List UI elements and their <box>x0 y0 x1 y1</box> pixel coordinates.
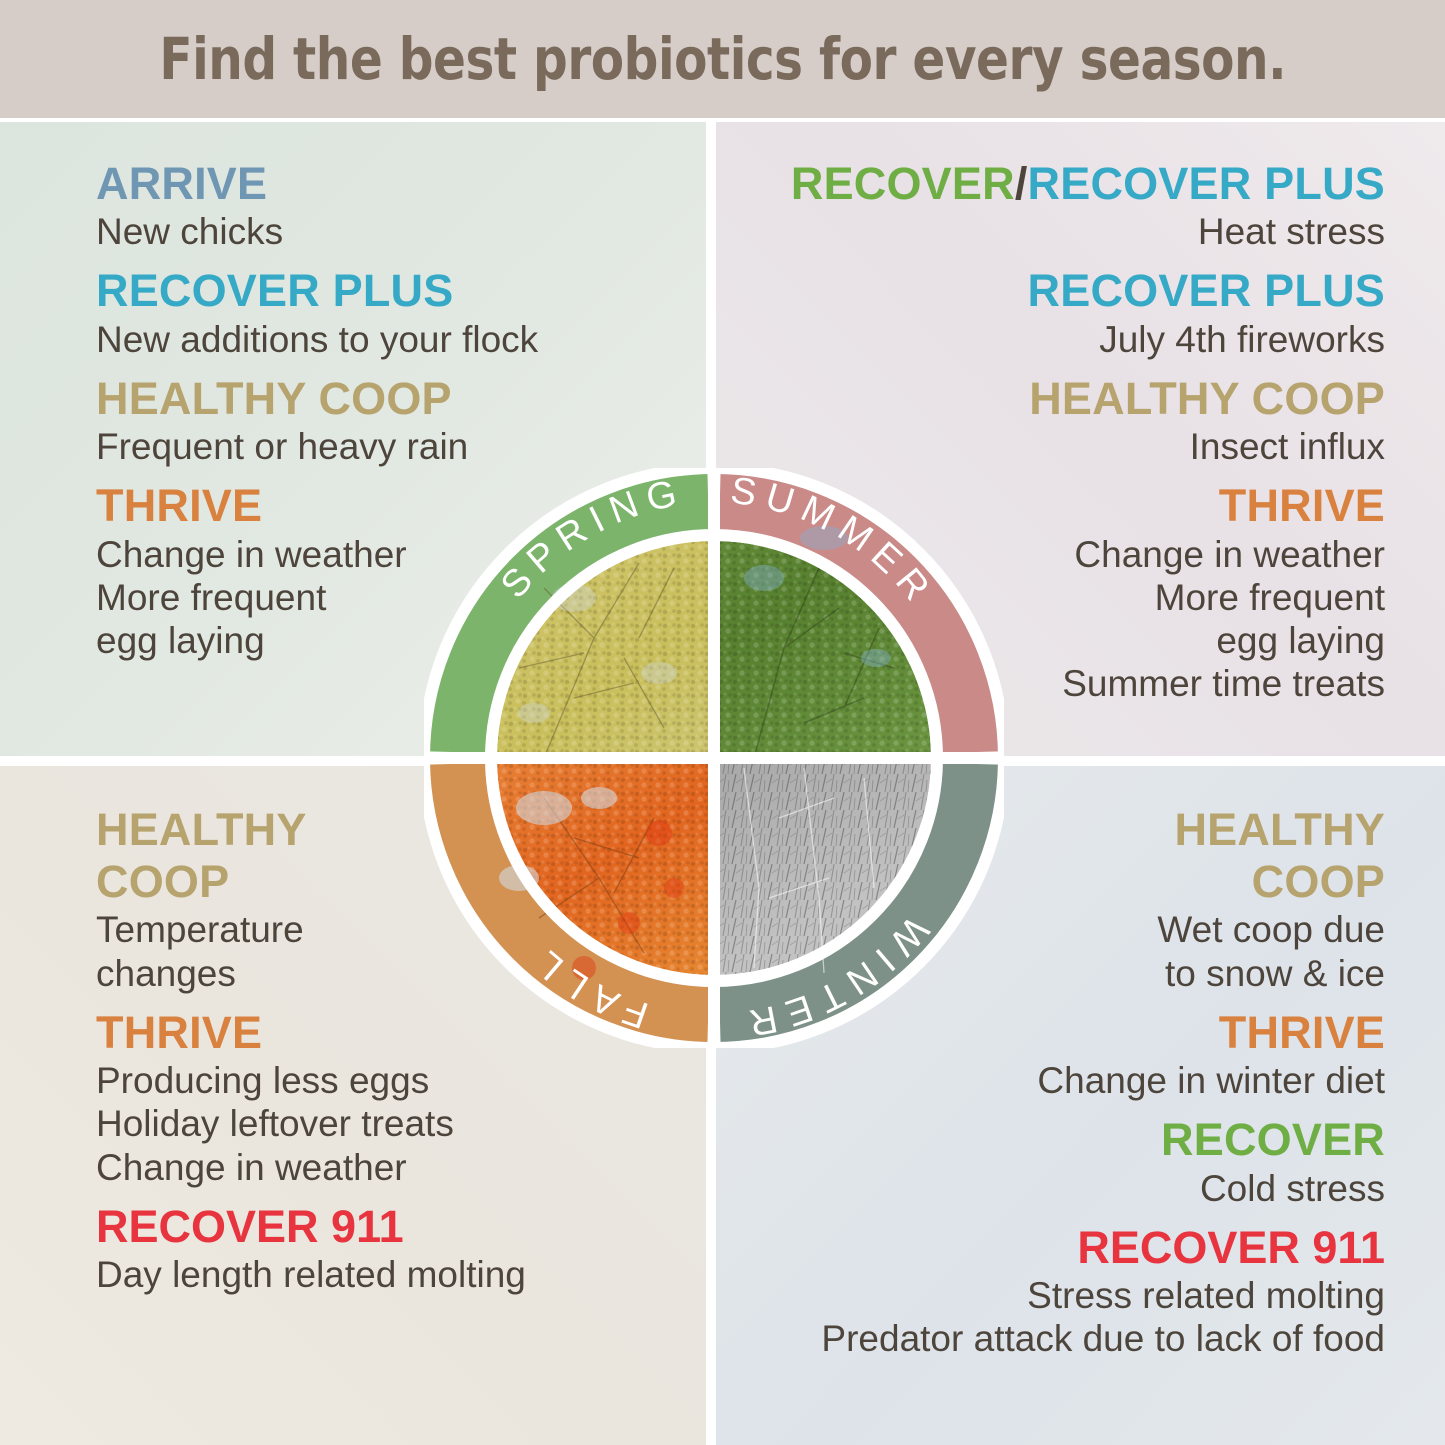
product-desc-line: Change in winter diet <box>745 1059 1385 1102</box>
list-item: HEALTHY COOP Insect influx <box>745 373 1385 468</box>
product-name: RECOVER PLUS <box>96 265 676 317</box>
product-name-recover: RECOVER <box>791 158 1015 209</box>
product-name: ARRIVE <box>96 158 676 210</box>
product-desc-line: Change in weather <box>96 1146 566 1189</box>
list-item: RECOVER 911 Day length related molting <box>96 1201 566 1296</box>
product-desc-line: Heat stress <box>745 210 1385 253</box>
product-desc-line: Holiday leftover treats <box>96 1102 566 1145</box>
list-item: RECOVER PLUS July 4th fireworks <box>745 265 1385 360</box>
season-wheel: SPRING SUMMER WINTER FALL <box>424 468 1004 1048</box>
product-desc-line: Stress related molting <box>745 1274 1385 1317</box>
product-name: RECOVER 911 <box>745 1222 1385 1274</box>
product-desc-line: Producing less eggs <box>96 1059 566 1102</box>
header-banner: Find the best probiotics for every seaso… <box>0 0 1445 118</box>
product-desc-line: New chicks <box>96 210 676 253</box>
product-desc-line: Frequent or heavy rain <box>96 425 676 468</box>
product-name: HEALTHY COOP <box>745 373 1385 425</box>
product-desc-line: Predator attack due to lack of food <box>745 1317 1385 1360</box>
page-title: Find the best probiotics for every seaso… <box>159 25 1286 93</box>
product-desc-line: July 4th fireworks <box>745 318 1385 361</box>
list-item: ARRIVE New chicks <box>96 158 676 253</box>
product-desc-line: New additions to your flock <box>96 318 676 361</box>
infographic-root: Find the best probiotics for every seaso… <box>0 0 1445 1445</box>
product-name: RECOVER/RECOVER PLUS <box>745 158 1385 210</box>
product-desc-line: Insect influx <box>745 425 1385 468</box>
product-desc-line: Cold stress <box>745 1167 1385 1210</box>
product-name-recover-plus: RECOVER PLUS <box>1028 158 1385 209</box>
list-item: RECOVER PLUS New additions to your flock <box>96 265 676 360</box>
product-desc-line: Day length related molting <box>96 1253 566 1296</box>
product-name-separator: / <box>1015 158 1028 209</box>
product-name: RECOVER PLUS <box>745 265 1385 317</box>
product-name: RECOVER <box>745 1114 1385 1166</box>
list-item: RECOVER Cold stress <box>745 1114 1385 1209</box>
product-name: HEALTHY COOP <box>96 373 676 425</box>
list-item: RECOVER/RECOVER PLUS Heat stress <box>745 158 1385 253</box>
list-item: RECOVER 911 Stress related molting Preda… <box>745 1222 1385 1361</box>
product-name: RECOVER 911 <box>96 1201 566 1253</box>
list-item: HEALTHY COOP Frequent or heavy rain <box>96 373 676 468</box>
